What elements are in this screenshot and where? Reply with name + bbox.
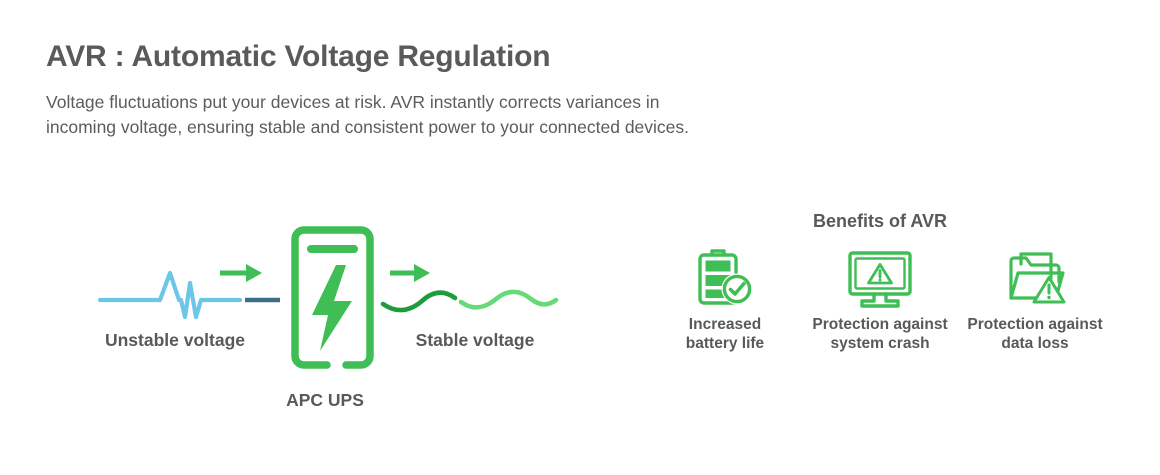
- arrow-right-icon-out: [390, 264, 430, 282]
- apc-ups-label: APC UPS: [235, 390, 415, 411]
- benefits-list: Increased battery life Protection ag: [650, 247, 1110, 353]
- ups-device-icon: [295, 230, 370, 365]
- benefit-label: Increased battery life: [686, 315, 764, 353]
- stable-voltage-label: Stable voltage: [380, 330, 570, 351]
- monitor-warning-icon: [844, 247, 916, 311]
- battery-check-icon: [692, 247, 758, 311]
- flow-graphics: [80, 205, 580, 420]
- avr-flow-diagram: Unstable voltage Stable voltage APC UPS: [80, 205, 580, 420]
- arrow-right-icon-in: [220, 264, 262, 282]
- page-title: AVR : Automatic Voltage Regulation: [46, 40, 550, 74]
- page-description: Voltage fluctuations put your devices at…: [46, 90, 826, 140]
- stable-waveform-icon: [383, 292, 556, 310]
- unstable-voltage-label: Unstable voltage: [80, 330, 270, 351]
- benefit-label: Protection against system crash: [812, 315, 947, 353]
- benefit-item-system-crash: Protection against system crash: [805, 247, 955, 353]
- benefit-item-data-loss: Protection against data loss: [960, 247, 1110, 353]
- unstable-waveform-icon: [100, 273, 280, 317]
- benefits-section: Benefits of AVR: [650, 205, 1110, 370]
- folder-warning-icon: [1001, 247, 1069, 311]
- benefits-heading: Benefits of AVR: [650, 211, 1110, 232]
- lightning-bolt-icon: [312, 265, 352, 351]
- benefit-label: Protection against data loss: [967, 315, 1102, 353]
- benefit-item-battery-life: Increased battery life: [650, 247, 800, 353]
